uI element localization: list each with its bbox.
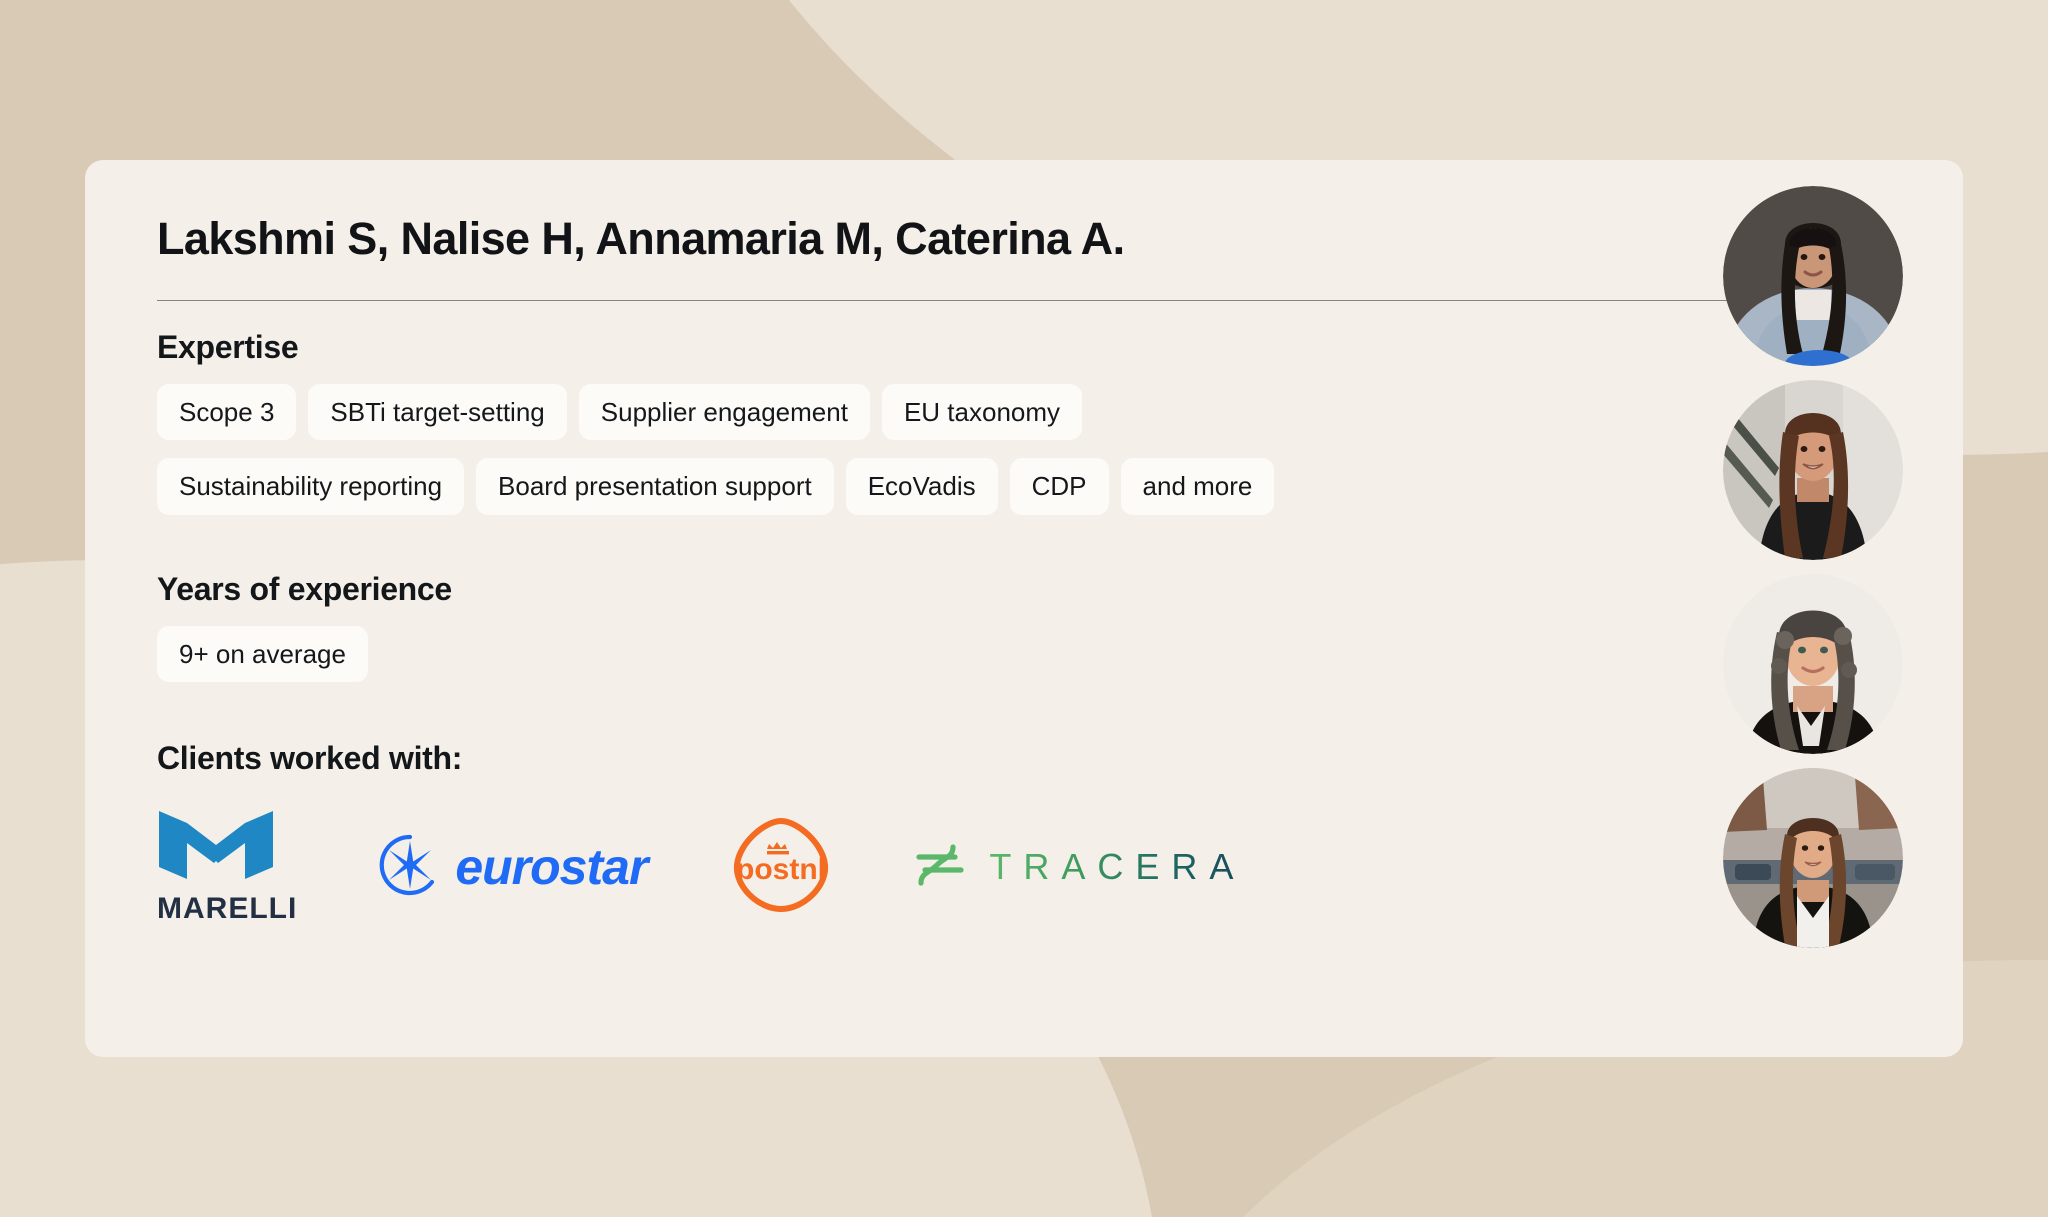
expertise-tag[interactable]: SBTi target-setting [308, 384, 566, 441]
avatar [1723, 768, 1903, 948]
expertise-tag-and-more[interactable]: and more [1121, 458, 1275, 515]
client-logo-eurostar: eurostar [379, 834, 647, 901]
expertise-heading: Expertise [157, 329, 1663, 366]
avatar [1723, 186, 1903, 366]
expertise-tag[interactable]: Supplier engagement [579, 384, 870, 441]
expertise-tag[interactable]: Board presentation support [476, 458, 834, 515]
tracera-wordmark: TRACERA [989, 846, 1245, 888]
card-content-column: Lakshmi S, Nalise H, Annamaria M, Cateri… [85, 160, 1663, 1057]
tracera-wave-icon [915, 839, 973, 896]
avatar [1723, 380, 1903, 560]
avatar [1723, 574, 1903, 754]
postnl-triangle-icon: postnl [729, 813, 833, 922]
clients-heading: Clients worked with: [157, 740, 1663, 777]
page-title: Lakshmi S, Nalise H, Annamaria M, Cateri… [157, 214, 1663, 264]
client-logo-marelli: MARELLI [157, 809, 297, 926]
years-of-experience-value: 9+ on average [157, 626, 368, 683]
eurostar-wordmark: eurostar [455, 838, 647, 896]
marelli-m-icon [157, 809, 275, 886]
consultant-profile-card: Lakshmi S, Nalise H, Annamaria M, Cateri… [85, 160, 1963, 1057]
eurostar-star-icon [379, 834, 441, 901]
expertise-tag[interactable]: EU taxonomy [882, 384, 1082, 441]
expertise-tag-row-1: Scope 3 SBTi target-setting Supplier eng… [157, 384, 1557, 441]
client-logo-tracera: TRACERA [915, 839, 1245, 896]
expertise-tag[interactable]: Sustainability reporting [157, 458, 464, 515]
marelli-wordmark: MARELLI [157, 892, 297, 926]
years-of-experience-heading: Years of experience [157, 571, 1663, 608]
avatar-column [1663, 160, 1963, 1057]
title-divider [157, 300, 1751, 301]
expertise-tag[interactable]: Scope 3 [157, 384, 296, 441]
expertise-tag-group: Scope 3 SBTi target-setting Supplier eng… [157, 384, 1557, 515]
expertise-tag[interactable]: CDP [1010, 458, 1109, 515]
years-of-experience-tag-row: 9+ on average [157, 626, 1663, 683]
client-logo-row: MARELLI eurostar [157, 807, 1663, 927]
client-logo-postnl: postnl [729, 813, 833, 922]
postnl-wordmark-text: postnl [736, 853, 826, 886]
expertise-tag-row-2: Sustainability reporting Board presentat… [157, 458, 1557, 515]
expertise-tag[interactable]: EcoVadis [846, 458, 998, 515]
